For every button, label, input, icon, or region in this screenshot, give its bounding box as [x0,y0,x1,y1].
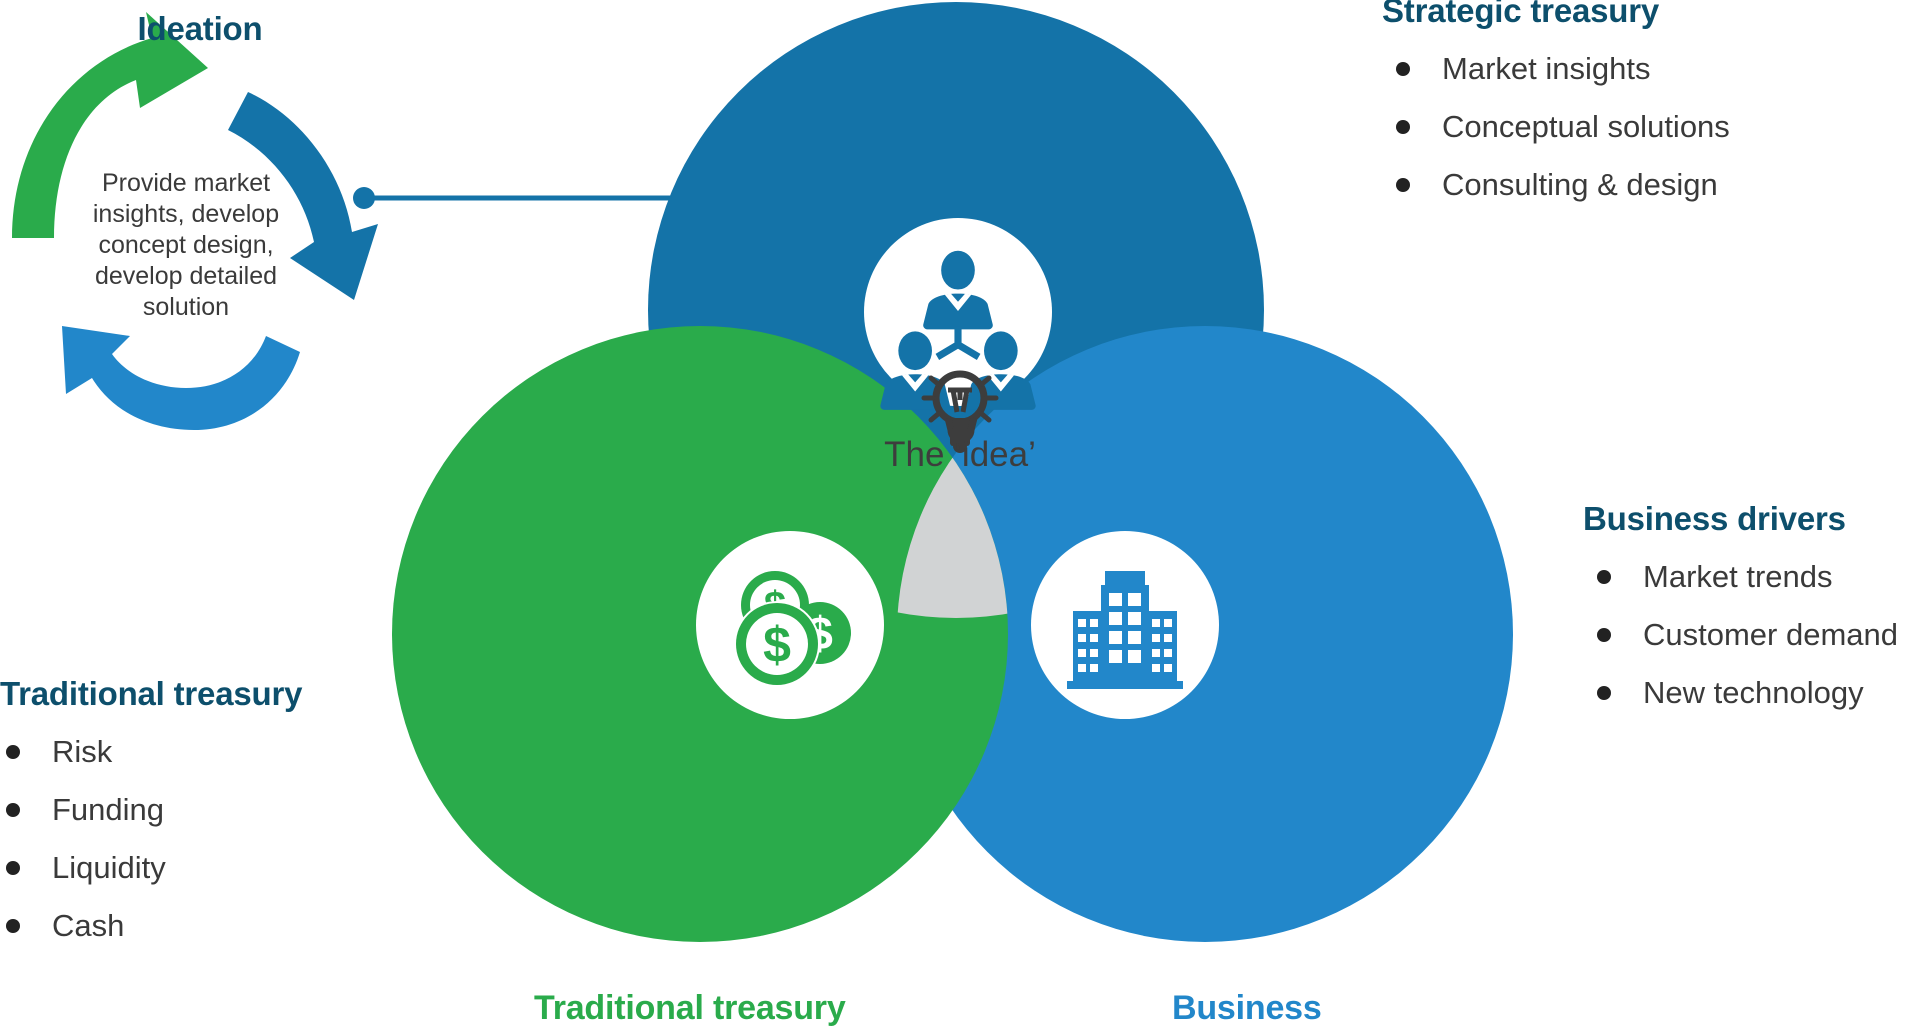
list-item-label: Liquidity [52,850,166,885]
list-item-label: New technology [1643,675,1864,710]
info-title-traditional-treasury: Traditional treasury [0,675,302,713]
info-title-business-drivers: Business drivers [1583,500,1898,538]
list-item: Liquidity [0,839,302,897]
bullet-icon [1396,120,1410,134]
ideation-caption: Provide market insights, develop concept… [72,168,300,323]
info-list-strategic-treasury: Market insights Conceptual solutions Con… [1382,40,1730,214]
list-item: New technology [1583,664,1898,722]
info-block-strategic-treasury: Strategic treasury Market insights Conce… [1382,0,1730,214]
info-block-business-drivers: Business drivers Market trends Customer … [1583,500,1898,722]
info-list-business-drivers: Market trends Customer demand New techno… [1583,548,1898,722]
idea-label: The ‘idea’ [830,435,1090,475]
bottom-label-business: Business [1172,989,1322,1028]
info-block-traditional-treasury: Traditional treasury Risk Funding Liquid… [0,675,302,955]
bottom-label-traditional-treasury: Traditional treasury [534,989,846,1028]
ideation-cycle: Ideation Provide market insights, develo… [0,0,420,480]
list-item-label: Market insights [1442,51,1650,86]
list-item: Funding [0,781,302,839]
list-item-label: Risk [52,734,112,769]
bullet-icon [1597,570,1611,584]
bullet-icon [1597,686,1611,700]
list-item: Risk [0,723,302,781]
list-item-label: Conceptual solutions [1442,109,1730,144]
svg-text:$: $ [763,617,791,673]
list-item-label: Market trends [1643,559,1833,594]
bullet-icon [6,861,20,875]
list-item: Conceptual solutions [1382,98,1730,156]
list-item: Customer demand [1583,606,1898,664]
bullet-icon [6,745,20,759]
list-item: Cash [0,897,302,955]
bullet-icon [1597,628,1611,642]
list-item-label: Customer demand [1643,617,1898,652]
bullet-icon [1396,62,1410,76]
arrow-lightblue-left [62,326,300,430]
list-item-label: Consulting & design [1442,167,1718,202]
bullet-icon [6,803,20,817]
bullet-icon [1396,178,1410,192]
list-item: Consulting & design [1382,156,1730,214]
info-title-strategic-treasury: Strategic treasury [1382,0,1730,30]
diagram-canvas: $ $ $ [0,0,1928,1036]
bullet-icon [6,919,20,933]
ideation-title: Ideation [0,10,400,48]
info-list-traditional-treasury: Risk Funding Liquidity Cash [0,723,302,955]
list-item: Market insights [1382,40,1730,98]
list-item-label: Funding [52,792,164,827]
list-item-label: Cash [52,908,124,943]
list-item: Market trends [1583,548,1898,606]
